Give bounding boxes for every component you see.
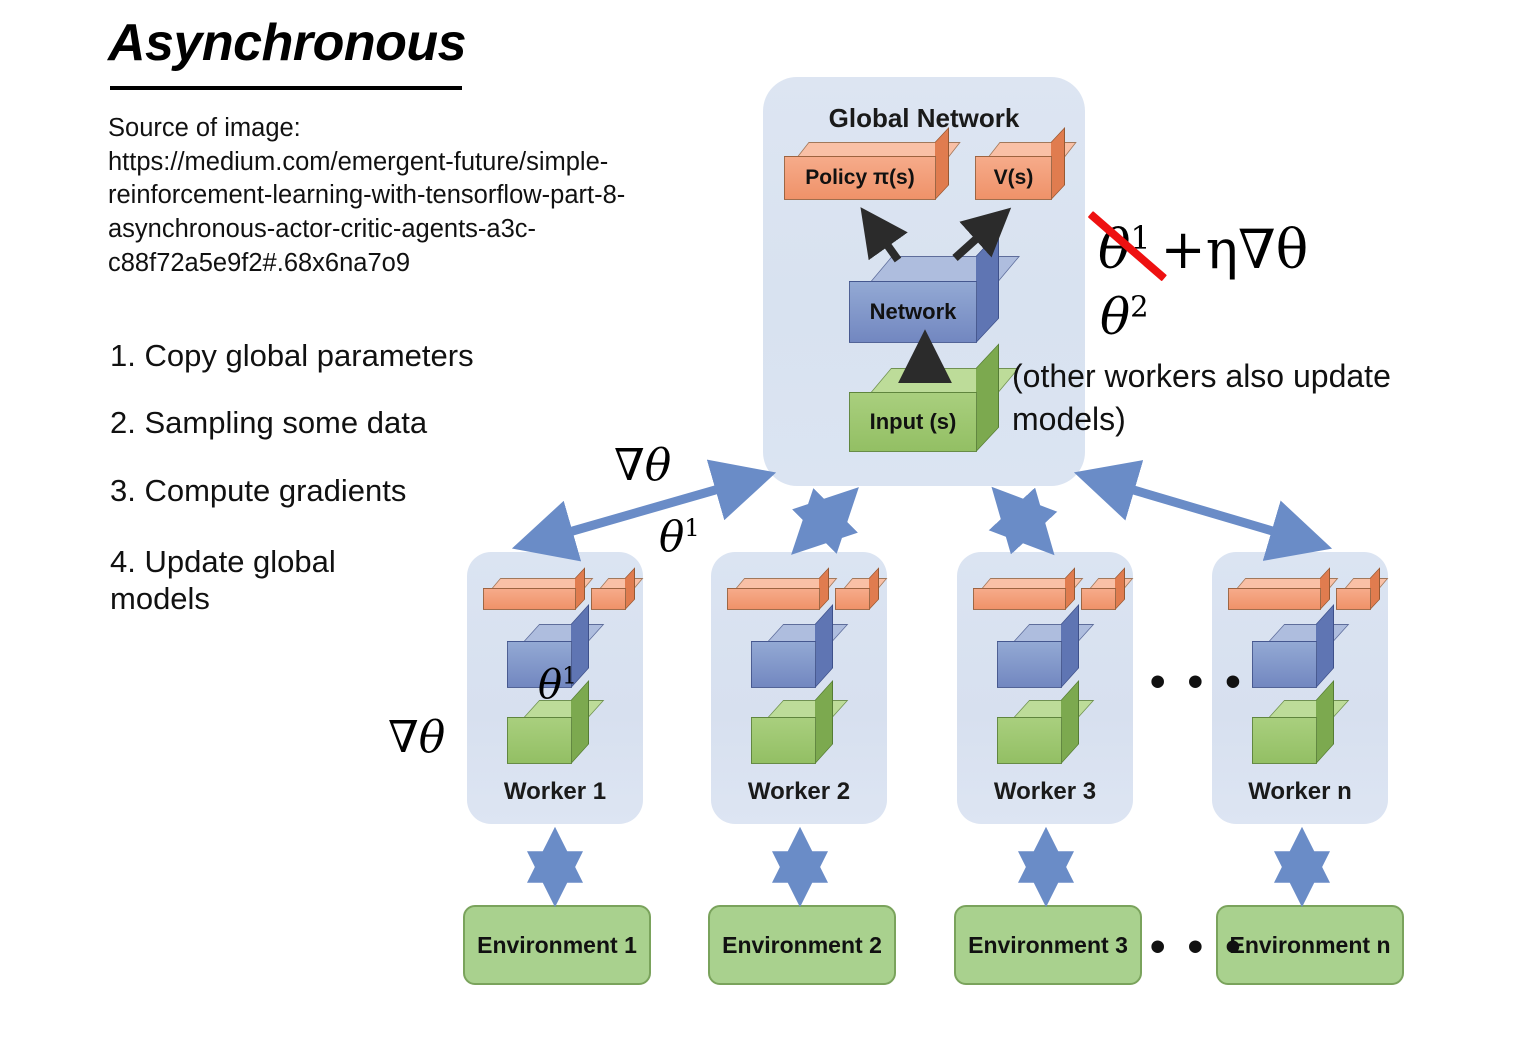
worker-environment-arrows bbox=[555, 838, 1302, 896]
worker2-policy-side bbox=[819, 567, 829, 610]
worker-label-2: Worker 2 bbox=[711, 778, 887, 806]
worker1-value-box bbox=[591, 578, 635, 610]
worker3-policy-face bbox=[973, 588, 1066, 610]
policy-box-side bbox=[935, 127, 949, 200]
worker2-policy-face bbox=[727, 588, 820, 610]
worker-ellipsis: • • • bbox=[1150, 660, 1246, 704]
worker3-network-top bbox=[1014, 624, 1094, 641]
worker-label-1: Worker 1 bbox=[467, 778, 643, 806]
policy-box-face: Policy π(s) bbox=[784, 156, 936, 200]
source-attribution: Source of image: https://medium.com/emer… bbox=[108, 112, 758, 280]
worker2-input-box bbox=[751, 700, 833, 764]
worker1-input-box bbox=[507, 700, 589, 764]
worker2-value-box bbox=[835, 578, 879, 610]
input-box-side bbox=[976, 343, 999, 452]
worker2-network-top bbox=[768, 624, 848, 641]
worker2-value-top bbox=[844, 578, 887, 588]
worker1-network-top bbox=[524, 624, 604, 641]
policy-box: Policy π(s) bbox=[784, 142, 949, 200]
worker2-value-face bbox=[835, 588, 870, 610]
arrow-global-worker2 bbox=[800, 496, 850, 546]
worker3-input-face bbox=[997, 717, 1062, 764]
worker-panel-2: Worker 2 bbox=[711, 552, 887, 824]
source-label: Source of image: bbox=[108, 112, 758, 146]
worker2-input-face bbox=[751, 717, 816, 764]
step-item-2: 2. Sampling some data bbox=[110, 404, 427, 441]
value-box-side bbox=[1051, 127, 1065, 200]
value-box-face: V(s) bbox=[975, 156, 1052, 200]
workern-network-box bbox=[1252, 624, 1334, 688]
title-underline bbox=[110, 86, 462, 90]
page-title: Asynchronous bbox=[108, 16, 466, 71]
input-box: Input (s) bbox=[849, 368, 999, 452]
arrow-global-workern bbox=[1086, 476, 1320, 545]
theta1-worker-base: θ bbox=[538, 662, 562, 708]
worker3-network-face bbox=[997, 641, 1062, 688]
theta1-label-middle: θ1 bbox=[659, 512, 700, 561]
worker1-value-face bbox=[591, 588, 626, 610]
environment-box-3: Environment 3 bbox=[954, 905, 1142, 985]
theta2-exponent: 2 bbox=[1130, 289, 1148, 323]
value-box: V(s) bbox=[975, 142, 1065, 200]
worker3-network-side bbox=[1061, 604, 1079, 688]
arrow-global-worker3 bbox=[1000, 496, 1046, 546]
theta2-annotation: θ2 bbox=[1100, 288, 1149, 346]
environment-box-2: Environment 2 bbox=[708, 905, 896, 985]
worker3-policy-side bbox=[1065, 567, 1075, 610]
worker-panel-3: Worker 3 bbox=[957, 552, 1133, 824]
theta1-label-worker1: θ1 bbox=[538, 662, 577, 708]
workern-input-box bbox=[1252, 700, 1334, 764]
theta2-base: θ bbox=[1100, 288, 1130, 346]
workern-policy-side bbox=[1320, 567, 1330, 610]
worker2-input-top bbox=[768, 700, 848, 717]
other-workers-note: (other workers also update models) bbox=[1012, 355, 1412, 441]
workern-policy-box bbox=[1228, 578, 1330, 610]
input-box-face: Input (s) bbox=[849, 392, 977, 452]
worker-label-3: Worker 3 bbox=[957, 778, 1133, 806]
environment-ellipsis: • • • bbox=[1150, 925, 1246, 969]
worker3-input-top bbox=[1014, 700, 1094, 717]
worker2-network-face bbox=[751, 641, 816, 688]
worker1-value-side bbox=[625, 567, 635, 610]
worker2-input-side bbox=[815, 680, 833, 764]
workern-value-face bbox=[1336, 588, 1371, 610]
worker3-value-side bbox=[1115, 567, 1125, 610]
global-network-title: Global Network bbox=[763, 103, 1085, 134]
worker3-policy-box bbox=[973, 578, 1075, 610]
theta1-mid-exponent: 1 bbox=[684, 513, 700, 542]
step-item-1: 1. Copy global parameters bbox=[110, 337, 474, 374]
workern-input-top bbox=[1269, 700, 1349, 717]
worker2-network-side bbox=[815, 604, 833, 688]
worker1-input-face bbox=[507, 717, 572, 764]
worker3-input-box bbox=[997, 700, 1079, 764]
worker3-value-face bbox=[1081, 588, 1116, 610]
workern-network-top bbox=[1269, 624, 1349, 641]
worker1-policy-box bbox=[483, 578, 585, 610]
worker3-network-box bbox=[997, 624, 1079, 688]
worker3-value-top bbox=[1090, 578, 1133, 588]
source-url: https://medium.com/emergent-future/simpl… bbox=[108, 146, 758, 281]
gradient-label-top: ∇θ bbox=[614, 440, 671, 491]
workern-input-face bbox=[1252, 717, 1317, 764]
worker2-value-side bbox=[869, 567, 879, 610]
environment-box-1: Environment 1 bbox=[463, 905, 651, 985]
workern-policy-face bbox=[1228, 588, 1321, 610]
worker-label-n: Worker n bbox=[1212, 778, 1388, 806]
theta1-mid-base: θ bbox=[659, 512, 684, 561]
network-box-side bbox=[976, 231, 999, 343]
network-box-face: Network bbox=[849, 281, 977, 343]
worker2-network-box bbox=[751, 624, 833, 688]
workern-network-face bbox=[1252, 641, 1317, 688]
workern-input-side bbox=[1316, 680, 1334, 764]
workern-value-top bbox=[1345, 578, 1388, 588]
workern-value-side bbox=[1370, 567, 1380, 610]
worker1-policy-face bbox=[483, 588, 576, 610]
theta1-worker-exponent: 1 bbox=[562, 663, 577, 690]
worker2-policy-box bbox=[727, 578, 829, 610]
network-box: Network bbox=[849, 256, 999, 343]
worker3-input-side bbox=[1061, 680, 1079, 764]
gradient-label-left: ∇θ bbox=[388, 712, 445, 763]
workern-network-side bbox=[1316, 604, 1334, 688]
worker3-value-box bbox=[1081, 578, 1125, 610]
workern-value-box bbox=[1336, 578, 1380, 610]
formula-rest: +η∇θ bbox=[1150, 218, 1308, 281]
step-item-3: 3. Compute gradients bbox=[110, 472, 406, 509]
worker1-value-top bbox=[600, 578, 643, 588]
worker1-policy-side bbox=[575, 567, 585, 610]
step-item-4: 4. Update global models bbox=[110, 543, 440, 617]
